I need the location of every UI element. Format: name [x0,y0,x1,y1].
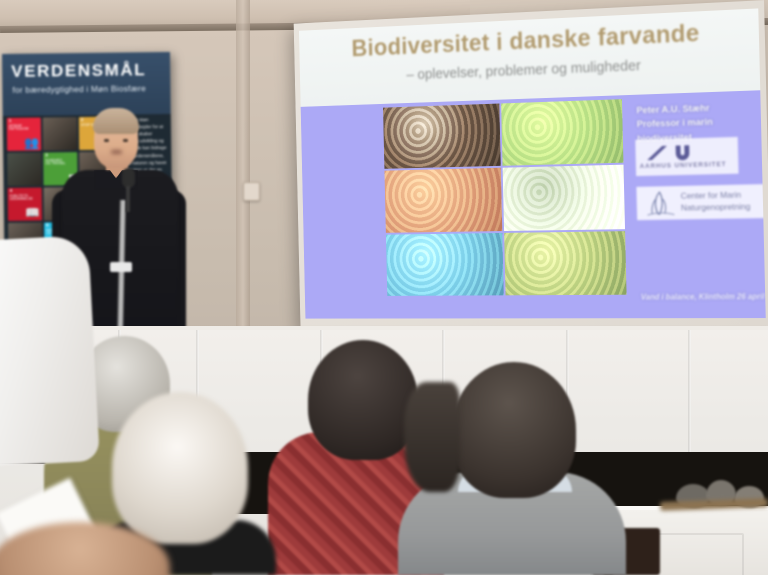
audience-member-grey-cardigan-head [452,362,576,498]
cmn-logo-line2: Naturgenopretning [681,200,766,213]
photo-texture [501,99,623,166]
photo-kelp-bed [504,231,626,296]
presentation-photo-scene: Biodiversitet i danske farvande – opleve… [0,0,768,575]
sdg-tile-label: KVALITETS­UDDANNELSE [10,194,32,201]
sdg-tile-label: AFSKAF FATTIGDOM [9,124,31,131]
banner-photo-tile [43,117,77,150]
sdg-tile-label: SUNDHED OG TRIVSEL [45,159,67,166]
sdg-tile-number: 6 [46,223,49,228]
aarhus-universitet-logo-text: AARHUS UNIVERSITET [640,161,737,170]
sdg-tile-icon: 👥 [24,137,39,149]
audience-member-partial-head [404,382,460,492]
sdg-tile-number: 2 [81,118,84,123]
slide-footer: Vand i balance, Klintholm 26 april [641,292,766,302]
photo-underwater-blue [386,233,504,296]
photo-texture [383,104,501,170]
presentation-slide: Biodiversitet i danske farvande – opleve… [299,8,766,318]
photo-texture [504,231,626,296]
audience-member-white-hair-head [112,392,248,544]
wainscot-groove [688,330,691,452]
speaker-mouth [111,150,122,154]
sdg-tile-number: 4 [10,189,13,194]
speaker-hair [93,108,139,134]
photo-texture [384,168,502,232]
center-for-marin-naturgenopretning-logo: Center for Marin Naturgenopretning [636,184,765,220]
projection-screen: Biodiversitet i danske farvande – opleve… [294,0,768,330]
sdg-tile-number: 3 [45,153,48,158]
speaker-right-eye [123,139,128,142]
cmn-logo-text: Center for Marin Naturgenopretning [681,189,766,214]
banner-photo-tile [7,153,41,186]
banner-subtitle: for bæredygtighed i Møn Biosfære [12,83,162,95]
white-curtain [0,235,100,467]
sdg-tile-4: 4KVALITETS­UDDANNELSE📖 [8,188,42,221]
door-frame [236,0,250,330]
microphone-stem [126,186,130,212]
seagrass-icon [644,190,677,217]
sdg-tile-1: 1AFSKAF FATTIGDOM👥 [7,118,41,151]
stand-clip [110,262,132,272]
au-mark-icon [643,142,703,163]
photo-starfish-orange [384,168,502,232]
aarhus-universitet-logo: AARHUS UNIVERSITET [635,137,738,176]
light-switch[interactable] [243,182,260,201]
photo-coral-reef [383,104,501,170]
slide-photo-grid [383,99,627,296]
speaker-left-eye [104,139,109,142]
sdg-tile-icon: 📖 [25,207,40,219]
photo-coastal-lagoon [503,165,625,231]
banner-title: VERDENSMÅL [11,60,163,82]
photo-texture [386,233,504,296]
microphone-head [122,168,135,188]
audience-member-red-plaid-head [308,340,418,460]
photo-seagrass-green [501,99,623,166]
sdg-tile-number: 1 [9,119,12,124]
photo-texture [503,165,625,231]
